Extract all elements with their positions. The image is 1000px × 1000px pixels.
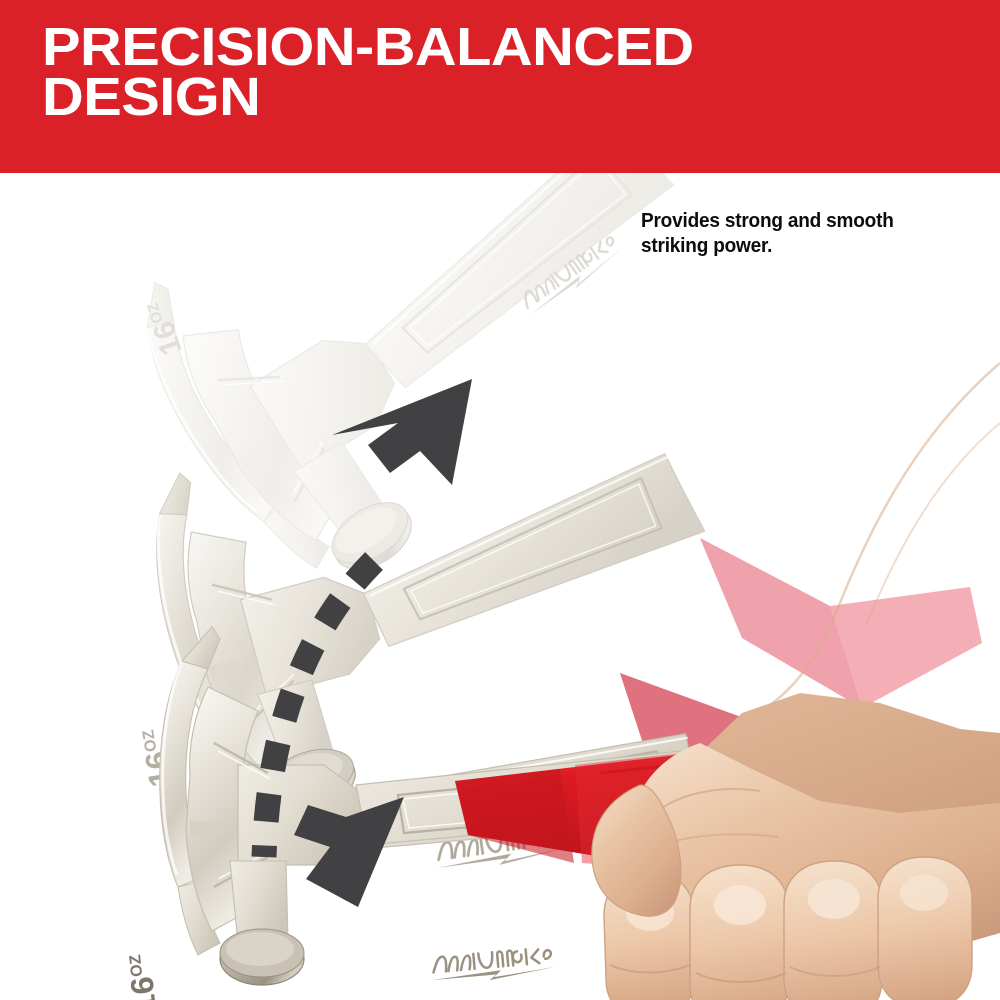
svg-text:16: 16 <box>123 975 163 1000</box>
brand-mark-solid <box>430 947 557 985</box>
hammer-illustration: 16 OZ 16 OZ <box>0 173 1000 1000</box>
svg-text:OZ: OZ <box>127 954 146 978</box>
header-banner: PRECISION-BALANCED DESIGN <box>0 0 1000 173</box>
page-title: PRECISION-BALANCED DESIGN <box>42 22 1000 122</box>
svg-text:OZ: OZ <box>140 728 160 753</box>
product-feature-graphic: PRECISION-BALANCED DESIGN Provides stron… <box>0 0 1000 1000</box>
weight-stamp-solid: 16 OZ <box>121 952 163 1000</box>
hand-and-arm <box>592 351 1000 1000</box>
handle-ghost-top <box>700 538 982 708</box>
